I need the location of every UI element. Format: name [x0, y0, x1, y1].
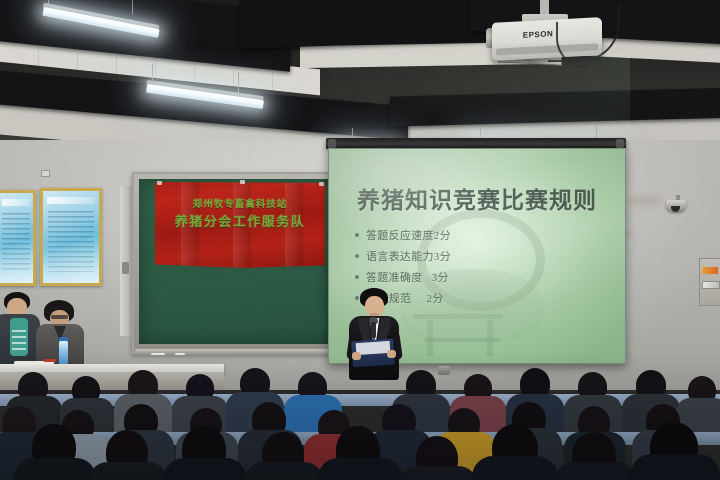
watermark-bar: [424, 338, 500, 342]
poster-glare: [43, 241, 99, 283]
panel-breaker-strip: [702, 281, 720, 289]
poster-header-band: [2, 199, 31, 206]
chalkboard-side-panel: [120, 186, 132, 336]
slide-bullet-item: 答题反应速度2分: [355, 227, 555, 243]
audience-shoulders: [630, 454, 720, 480]
presenter-hand: [352, 352, 361, 360]
red-banner: 郑州牧专畜禽科技站 养猪分会工作服务队: [155, 182, 325, 268]
wall-speaker: [438, 366, 450, 375]
judge-right-glasses: [51, 315, 68, 319]
red-marker: [44, 359, 56, 362]
slide-bullet-text: 答题准确度 3分: [366, 269, 449, 285]
audience-shoulders: [244, 462, 324, 480]
classroom-photo-scene: EPSON 郑州牧专畜禽科技站 养猪分会工作服务队: [0, 0, 720, 480]
audience-shoulders: [164, 458, 246, 480]
wall-smudge: [628, 196, 662, 206]
watermark-bar: [414, 314, 504, 319]
audience-shoulders: [398, 466, 478, 480]
banner-line-1: 郑州牧专畜禽科技站: [155, 196, 325, 210]
bullet-dot-icon: [355, 296, 359, 300]
microphone: [371, 322, 376, 338]
light-hanger-wire: [132, 0, 133, 14]
judge-left-shirt-print: [12, 330, 26, 350]
slide-bullet-text: 语言表达能力3分: [366, 248, 451, 264]
poster-glare: [0, 242, 33, 283]
chalk-piece: [175, 353, 185, 355]
wall-poster-right: [40, 188, 102, 286]
banner-pin: [240, 180, 245, 184]
slide-bullet-item: 答题准确度 3分: [355, 269, 555, 285]
roller-end-cap: [328, 139, 336, 148]
panel-breaker-strip: [702, 267, 718, 274]
audience-shoulders: [318, 458, 402, 480]
roller-end-cap: [616, 139, 624, 148]
watermark-leg: [427, 320, 433, 356]
chalk-piece: [151, 353, 165, 355]
water-bottle: [59, 341, 68, 365]
bullet-dot-icon: [355, 233, 359, 237]
chalkboard-knob: [122, 262, 129, 274]
chalk-tray: [135, 349, 339, 356]
bullet-dot-icon: [355, 254, 359, 258]
presenter-hand: [387, 350, 396, 358]
audience-shoulders: [88, 462, 168, 480]
poster-header-band: [47, 197, 94, 204]
slide-bullet-text: 答题反应速度2分: [366, 227, 451, 243]
wall-sensor: [41, 170, 50, 177]
wall-poster-left: [0, 190, 36, 286]
surveillance-camera: [666, 200, 686, 212]
banner-line-2: 养猪分会工作服务队: [155, 211, 325, 230]
audience-shoulders: [554, 462, 636, 480]
electrical-panel-box: [699, 258, 720, 306]
audience-shoulders: [14, 458, 96, 480]
bullet-dot-icon: [355, 275, 359, 279]
slide-bullet-item: 语言表达能力3分: [355, 248, 555, 264]
banner-pin: [319, 182, 324, 186]
watermark-leg: [487, 320, 493, 356]
slide-title: 养猪知识竞赛比赛规则: [329, 181, 625, 215]
audience-shoulders: [472, 456, 558, 480]
banner-pin: [157, 181, 162, 185]
